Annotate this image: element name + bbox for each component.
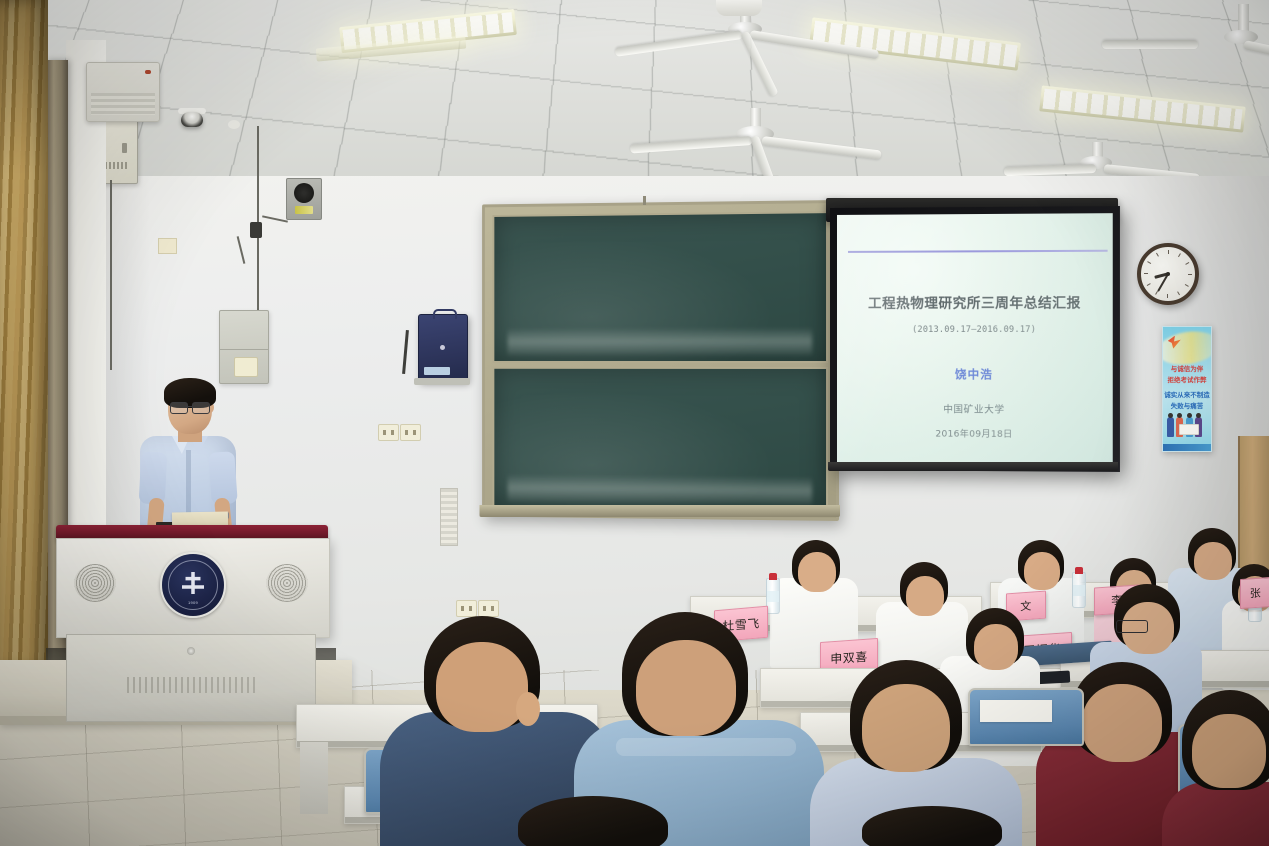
- ceiling-knob-icon: [228, 120, 240, 129]
- slide-organization: 中国矿业大学: [837, 401, 1113, 416]
- blackboard: [482, 200, 839, 521]
- chalk-tray: [479, 505, 840, 517]
- intercom-unit: [286, 178, 322, 220]
- water-bottle-2: [1072, 572, 1086, 608]
- hanging-adapter: [250, 222, 262, 238]
- air-conditioner-unit: [86, 62, 160, 122]
- slide-author: 饶中浩: [837, 366, 1113, 383]
- window-curtain: [0, 0, 48, 700]
- projection-screen-bottom-bar: [828, 462, 1118, 471]
- slide-date-range: (2013.09.17—2016.09.17): [837, 325, 1113, 335]
- podium-speaker-right: [266, 564, 308, 602]
- paper-sheet-front: [980, 700, 1052, 722]
- smoke-detector-icon: [716, 0, 762, 16]
- service-panel: [219, 310, 269, 384]
- desk-side-panel: [300, 742, 328, 814]
- wall-plate-small: [158, 238, 177, 254]
- glasses-icon: [170, 402, 212, 413]
- wall-outlet-4: [478, 600, 499, 617]
- wall-grille: [440, 488, 458, 546]
- board-hook-icon: [643, 196, 646, 205]
- wall-outlet-3: [456, 600, 477, 617]
- presenter-sleeve-right: [208, 451, 238, 505]
- podium-base-cabinet: [66, 634, 316, 722]
- slide-title: 工程热物理研究所三周年总结汇报: [837, 291, 1113, 312]
- clock-center-pin: [1166, 272, 1170, 276]
- poster-line-1: 与诚信为伴: [1163, 363, 1211, 373]
- conduit-wire-1: [110, 180, 112, 370]
- podium-vents: [127, 677, 255, 693]
- presenter-sleeve-left: [139, 451, 168, 504]
- poster-line-4: 失败与痛苦: [1163, 400, 1211, 410]
- collar: [616, 738, 796, 756]
- university-emblem-icon: 1909: [160, 552, 226, 618]
- poster-line-3: 诚实从来不制造: [1163, 389, 1211, 399]
- podium-speaker-left: [74, 564, 116, 602]
- emblem-year: 1909: [162, 600, 224, 605]
- security-camera-icon: [181, 112, 203, 127]
- blue-wall-cabinet: [418, 314, 468, 382]
- wall-clock-icon: [1137, 243, 1199, 305]
- podium-lock-icon: [187, 647, 195, 655]
- water-bottle-1: [766, 578, 780, 614]
- wall-outlet-1: [378, 424, 399, 441]
- blackboard-panel-bottom: [492, 367, 828, 511]
- glasses-icon: [1116, 620, 1148, 633]
- lecture-hall-photo: 工程热物理研究所三周年总结汇报 (2013.09.17—2016.09.17) …: [0, 0, 1269, 846]
- slide-divider-rule: [848, 250, 1107, 253]
- blue-cabinet-shelf: [414, 378, 470, 385]
- poster-figure-1: [1167, 417, 1174, 437]
- projection-screen: 工程热物理研究所三周年总结汇报 (2013.09.17—2016.09.17) …: [830, 206, 1120, 472]
- slide-date: 2016年09月18日: [837, 426, 1113, 440]
- ear: [516, 692, 540, 726]
- poster-line-2: 拒绝考试作弊: [1163, 374, 1211, 384]
- projected-slide: 工程热物理研究所三周年总结汇报 (2013.09.17—2016.09.17) …: [837, 213, 1113, 465]
- poster-sign-icon: [1179, 424, 1199, 435]
- name-card: 张: [1240, 577, 1269, 609]
- blackboard-panel-top: [492, 211, 828, 363]
- wall-outlet-2: [400, 424, 421, 441]
- wall-poster: 与诚信为伴 拒绝考试作弊 诚实从来不制造 失败与痛苦: [1162, 326, 1212, 452]
